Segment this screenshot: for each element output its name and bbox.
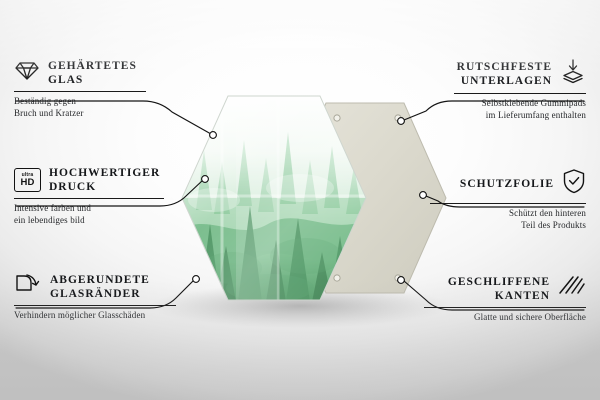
connector-endpoint	[398, 277, 405, 284]
rounded-corner-icon	[14, 272, 42, 301]
ultra-hd-large-label: HD	[20, 178, 34, 188]
feature-title-line1: GESCHLIFFENE	[448, 276, 550, 288]
feature-title-line1: GEHÄRTETES	[48, 60, 137, 72]
connector-endpoint	[193, 276, 200, 283]
feature-rule	[14, 305, 176, 306]
feature-title-line2: GLAS	[48, 74, 83, 86]
feature-title-line2: KANTEN	[495, 290, 550, 302]
diamond-icon	[14, 58, 40, 87]
feature-print-quality: ultra HD HOCHWERTIGER DRUCK Intensive fa…	[14, 166, 164, 226]
feature-rule	[430, 203, 586, 204]
feature-rule	[454, 93, 586, 94]
feature-title-line2: UNTERLAGEN	[461, 75, 552, 87]
feature-title-line2: DRUCK	[49, 181, 96, 193]
diagonal-hatch-icon	[558, 274, 586, 303]
infographic-canvas: GEHÄRTETES GLAS Beständig gegen Bruch un…	[0, 0, 600, 400]
feature-title-line2: GLASRÄNDER	[50, 288, 141, 300]
feature-ground-edges: GESCHLIFFENE KANTEN Glatte und sichere O…	[424, 274, 586, 324]
connector-endpoint	[202, 176, 209, 183]
shield-check-icon	[562, 168, 586, 199]
feature-desc-line1: Beständig gegen	[14, 96, 76, 106]
feature-title-line1: ABGERUNDETE	[50, 274, 150, 286]
feature-rule	[14, 198, 164, 199]
feature-rounded-edges: ABGERUNDETE GLASRÄNDER Verhindern möglic…	[14, 272, 176, 322]
arrow-onto-pad-icon	[560, 58, 586, 89]
feature-desc-line1: Glatte und sichere Oberfläche	[474, 312, 586, 322]
feature-title-line1: RUTSCHFESTE	[457, 61, 552, 73]
feature-desc-line1: Schützt den hinteren	[509, 208, 586, 218]
rubber-pad	[334, 115, 340, 121]
feature-desc-line2: Bruch und Kratzer	[14, 108, 84, 118]
ultra-hd-badge-icon: ultra HD	[14, 168, 41, 192]
feature-desc-line2: im Lieferumfang enthalten	[486, 110, 586, 120]
rubber-pad	[334, 275, 340, 281]
feature-desc-line2: ein lebendiges bild	[14, 215, 85, 225]
feature-desc-line1: Selbstklebende Gummipads	[482, 98, 586, 108]
feature-protective-foil: SCHUTZFOLIE Schützt den hinteren Teil de…	[430, 168, 586, 231]
feature-tempered-glass: GEHÄRTETES GLAS Beständig gegen Bruch un…	[14, 58, 146, 119]
feature-rule	[14, 91, 146, 92]
feature-desc-line1: Verhindern möglicher Glasschäden	[14, 310, 145, 320]
feature-rule	[424, 307, 586, 308]
connector-endpoint	[398, 118, 405, 125]
feature-anti-slip-pads: RUTSCHFESTE UNTERLAGEN Selbstklebende Gu…	[454, 58, 586, 121]
feature-title-line1: SCHUTZFOLIE	[460, 178, 554, 190]
connector-endpoint	[420, 192, 427, 199]
feature-title-line1: HOCHWERTIGER	[49, 167, 160, 179]
connector-endpoint	[210, 132, 217, 139]
feature-desc-line2: Teil des Produkts	[521, 220, 586, 230]
feature-desc-line1: Intensive farben und	[14, 203, 91, 213]
